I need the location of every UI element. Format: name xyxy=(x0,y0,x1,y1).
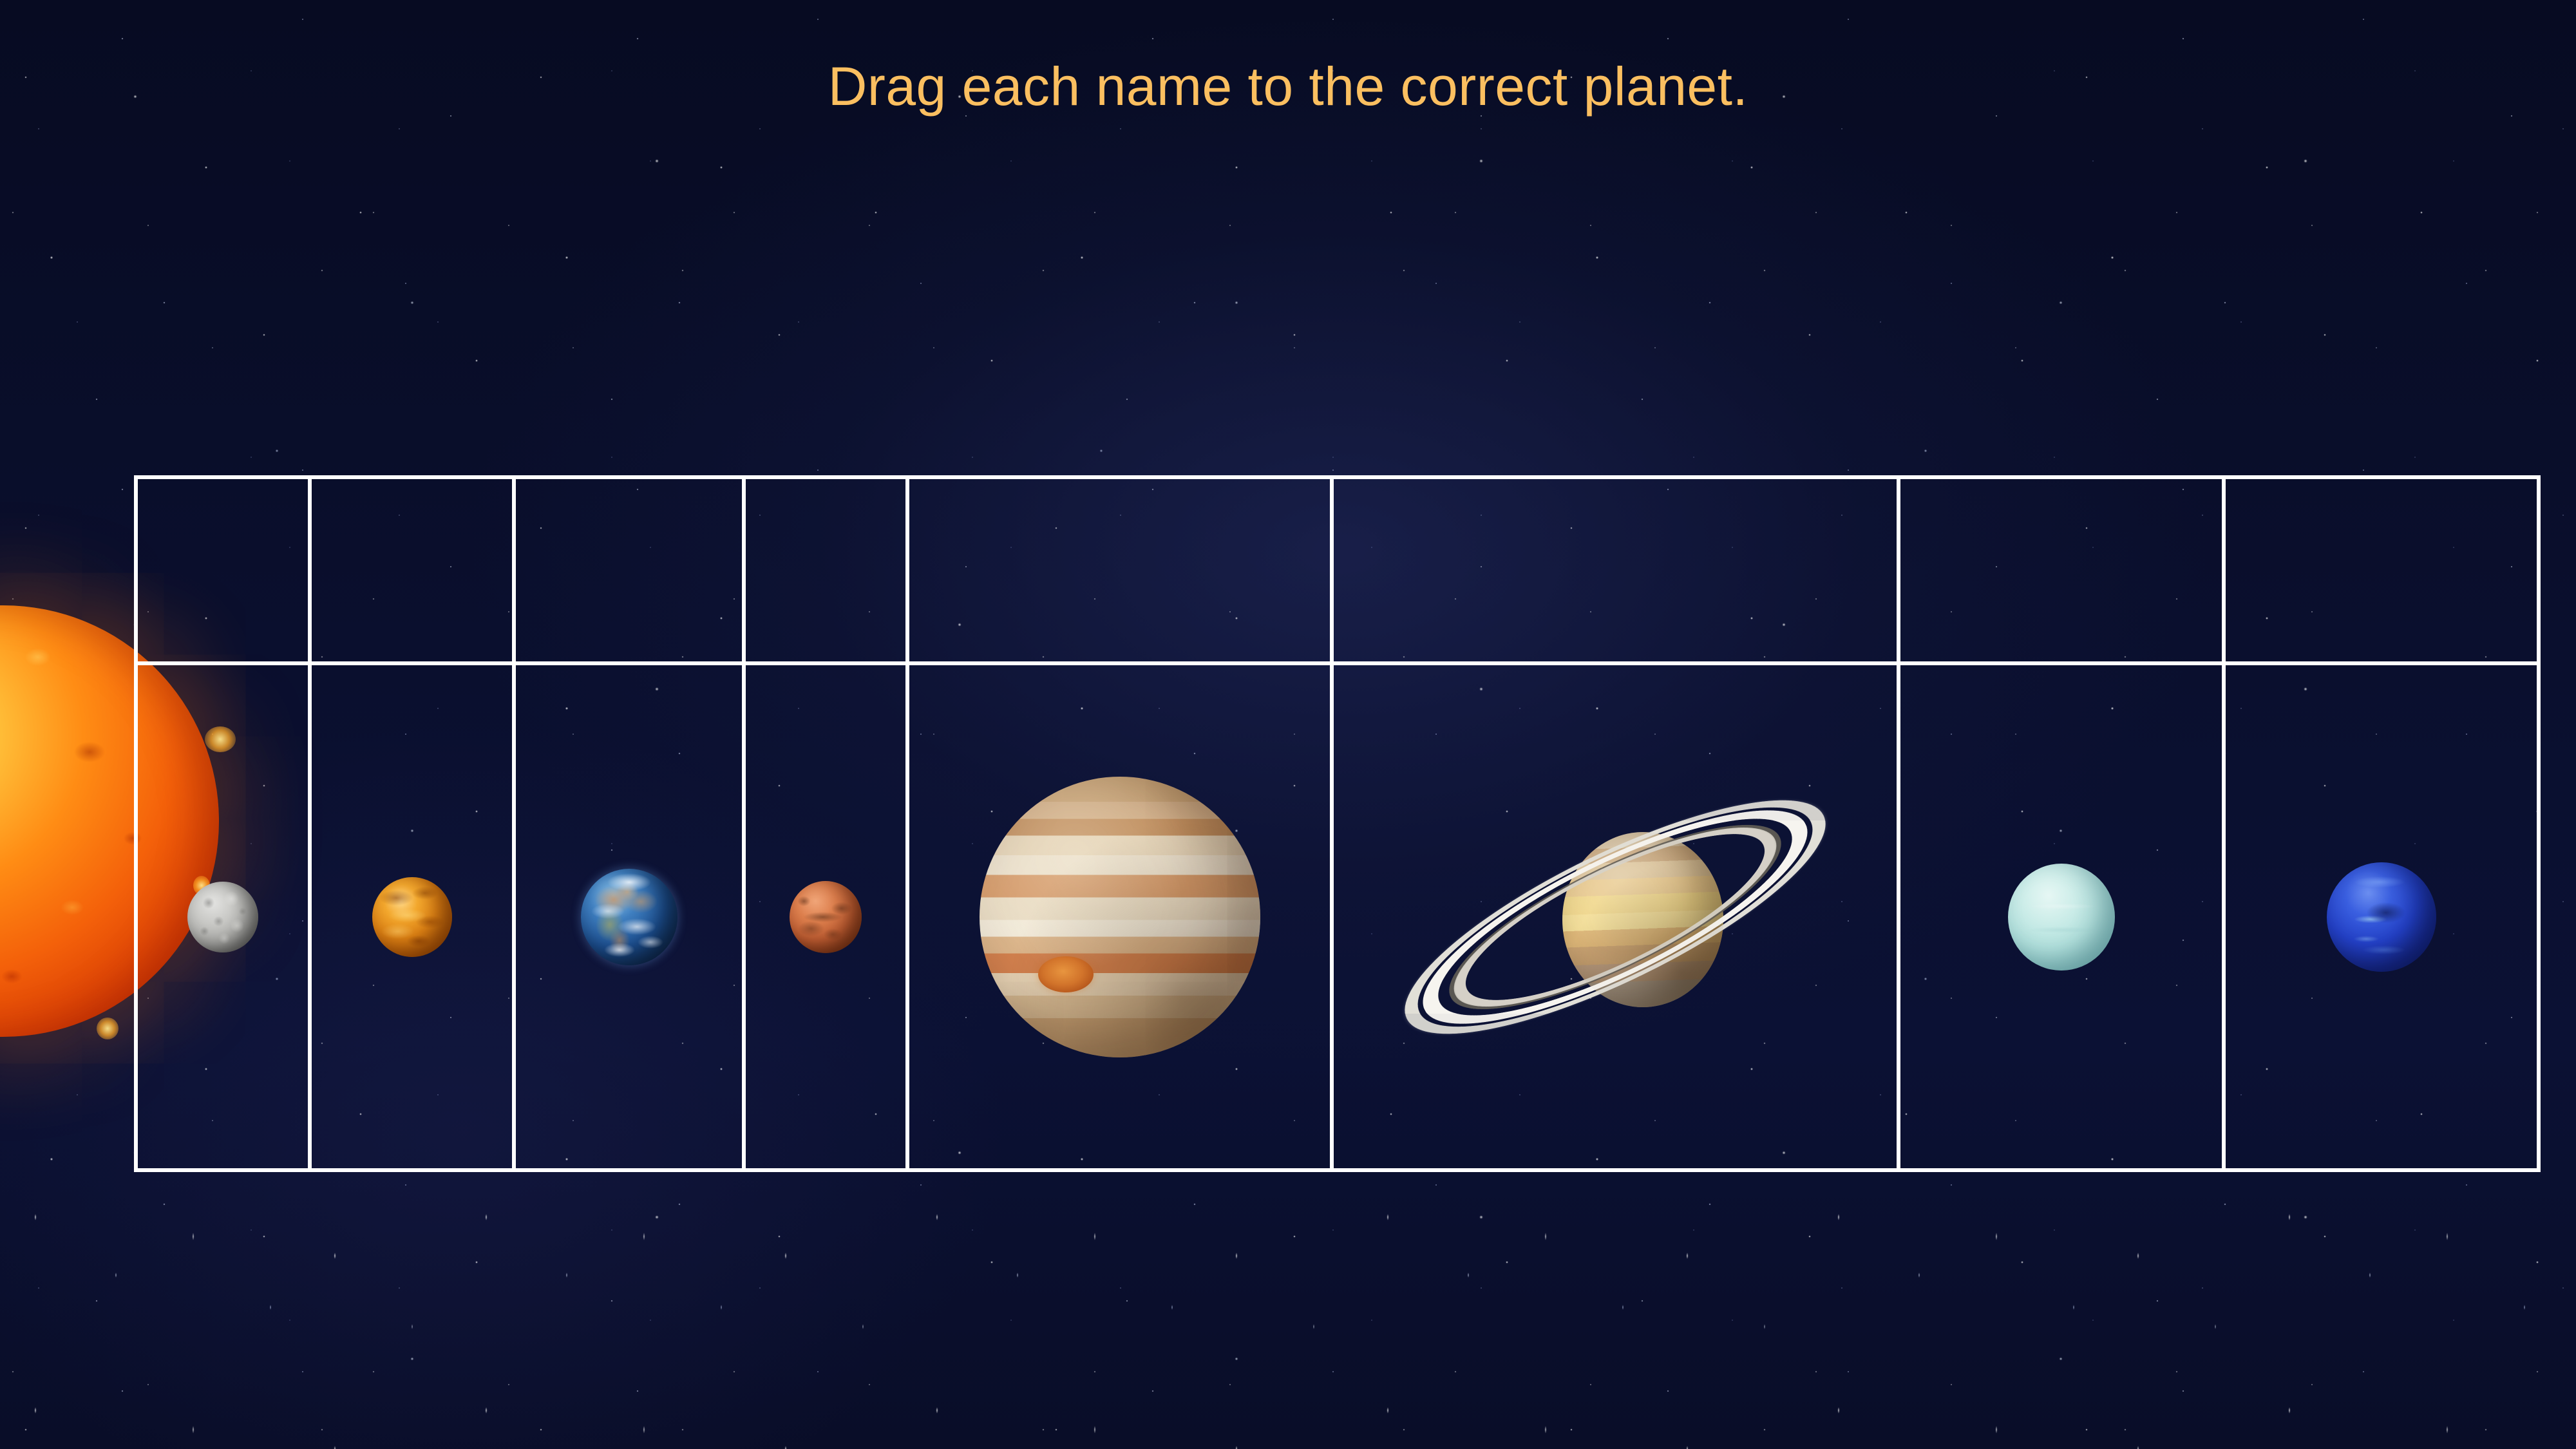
planet-cell-jupiter[interactable] xyxy=(909,665,1334,1168)
planet-cell-venus[interactable] xyxy=(312,665,516,1168)
jupiter-sphere-shading xyxy=(980,777,1260,1057)
solar-system-activity-canvas: Drag each name to the correct planet. xyxy=(0,0,2576,1449)
planet-cell-saturn[interactable] xyxy=(1334,665,1900,1168)
drop-zone-row xyxy=(138,479,2537,665)
mercury-craters xyxy=(187,882,258,952)
planet-cell-neptune[interactable] xyxy=(2226,665,2537,1168)
drop-zone-jupiter[interactable] xyxy=(909,479,1334,661)
planet-cell-mars[interactable] xyxy=(746,665,909,1168)
planet-row xyxy=(138,665,2537,1168)
venus-cloud-swirls xyxy=(372,877,452,957)
saturn-icon[interactable] xyxy=(1390,750,1841,1084)
planet-cell-mercury[interactable] xyxy=(138,665,312,1168)
neptune-icon[interactable] xyxy=(2327,862,2436,972)
drop-zone-mars[interactable] xyxy=(746,479,909,661)
sun-prominence-icon xyxy=(97,1018,118,1039)
drop-zone-uranus[interactable] xyxy=(1900,479,2226,661)
earth-clouds xyxy=(581,869,677,965)
mars-icon[interactable] xyxy=(790,881,862,953)
uranus-icon[interactable] xyxy=(2008,864,2115,971)
drop-zone-mercury[interactable] xyxy=(138,479,312,661)
venus-icon[interactable] xyxy=(372,877,452,957)
starfield-layer-bottom xyxy=(0,1191,2576,1449)
planet-matching-grid xyxy=(134,475,2541,1172)
drop-zone-saturn[interactable] xyxy=(1334,479,1900,661)
drop-zone-earth[interactable] xyxy=(516,479,746,661)
earth-icon[interactable] xyxy=(581,869,677,965)
planet-cell-earth[interactable] xyxy=(516,665,746,1168)
neptune-great-dark-spot xyxy=(2327,862,2436,972)
saturn-body xyxy=(1562,832,1723,1007)
mars-surface-markings xyxy=(790,881,862,953)
uranus-bands xyxy=(2008,864,2115,971)
jupiter-great-red-spot xyxy=(1038,956,1094,992)
drop-zone-neptune[interactable] xyxy=(2226,479,2537,661)
page-title: Drag each name to the correct planet. xyxy=(0,59,2576,113)
planet-cell-uranus[interactable] xyxy=(1900,665,2226,1168)
mercury-icon[interactable] xyxy=(187,882,258,952)
drop-zone-venus[interactable] xyxy=(312,479,516,661)
jupiter-icon[interactable] xyxy=(980,777,1260,1057)
saturn-body-shading xyxy=(1562,832,1723,1007)
